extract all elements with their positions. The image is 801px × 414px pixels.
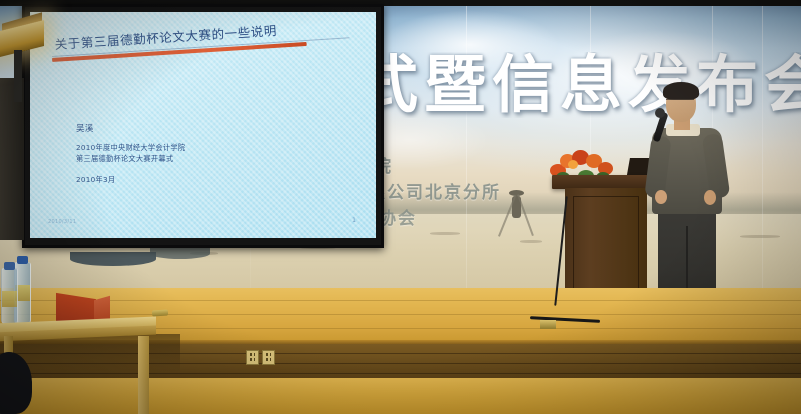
speaker-hair (663, 82, 699, 100)
photo-canvas: 式暨信息发布会 学院 所有限公司北京分所 究协会 关于第三届德勤杯论文大赛的一些… (0, 0, 801, 414)
power-outlet[interactable] (262, 350, 275, 365)
slide-footer-date: 2010/3/11 (48, 219, 76, 225)
slide-page-number: 1 (352, 217, 356, 224)
banner-main-title: 式暨信息发布会 (356, 52, 801, 118)
sand-texture (520, 240, 542, 243)
water-bottle[interactable] (1, 268, 18, 324)
speaker-hand-right (704, 190, 716, 205)
bottle-cap (4, 262, 15, 270)
lamp-stem (14, 50, 22, 102)
bottle-label (2, 291, 17, 307)
slide-author: 吴溪 (76, 122, 94, 134)
microphone-head (655, 108, 665, 118)
glasses-icon (666, 99, 694, 106)
floor-power-box (540, 320, 556, 329)
banner-seam (466, 0, 467, 300)
lectern-front-panel (573, 196, 639, 296)
slide-affiliation-line-1: 2010年度中央财经大学会计学院 (76, 143, 185, 153)
slide-affiliation-line-2: 第三届德勤杯论文大赛开幕式 (76, 154, 173, 164)
speaker-hand-left (655, 190, 667, 204)
floor-foreground (0, 378, 801, 414)
boat-silhouette (150, 248, 210, 259)
power-outlet[interactable] (246, 350, 259, 365)
mobile-phone[interactable] (152, 309, 168, 316)
banner-seam (762, 0, 763, 300)
sand-texture (430, 232, 460, 235)
projection-screen: 关于第三届德勤杯论文大赛的一些说明 吴溪 2010年度中央财经大学会计学院 第三… (30, 12, 376, 238)
slide-date: 2010年3月 (76, 175, 115, 185)
table-leg-right (138, 336, 149, 414)
boat-silhouette (70, 252, 156, 266)
bottle-cap (17, 256, 28, 264)
lamp-column (0, 78, 24, 240)
projection-screen-frame: 关于第三届德勤杯论文大赛的一些说明 吴溪 2010年度中央财经大学会计学院 第三… (22, 4, 384, 248)
sand-texture (740, 235, 780, 238)
